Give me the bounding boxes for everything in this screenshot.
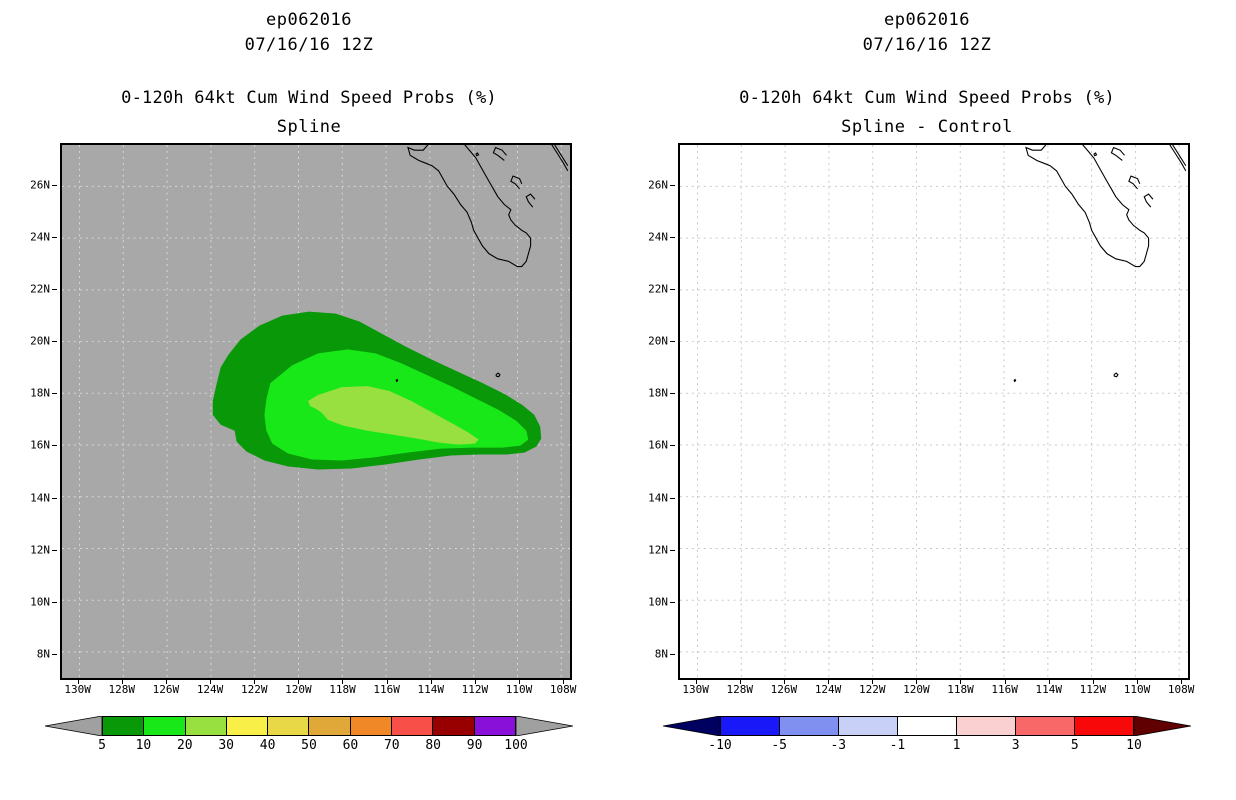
coastline-segment [396, 380, 398, 382]
y-axis-ticks-right: 8N10N12N14N16N18N20N22N24N26N [618, 143, 678, 680]
y-tick-label: 26N [30, 178, 50, 191]
colorbar-band [1016, 717, 1075, 735]
y-tick-label: 20N [648, 335, 668, 348]
colorbar-tick-label: 10 [1126, 738, 1142, 753]
colorbar-cap-low-left [45, 716, 102, 736]
x-tick-mark [254, 680, 255, 684]
map-layers-left [62, 145, 570, 678]
coastline-segment [1129, 176, 1140, 189]
gridlines-left [62, 145, 570, 678]
colorbar-tick-label: 3 [1012, 738, 1020, 753]
coastline-segment [531, 145, 568, 171]
valid-time-right: 07/16/16 12Z [618, 35, 1236, 55]
colorbar-tick-label: 60 [343, 738, 359, 753]
y-tick-mark [670, 237, 675, 238]
x-tick-label: 116W [373, 683, 400, 696]
x-tick-label: 118W [329, 683, 356, 696]
y-tick-label: 22N [30, 282, 50, 295]
contour-band-10 [264, 349, 528, 460]
colorbar-band [268, 717, 309, 735]
x-tick-label: 116W [991, 683, 1018, 696]
x-tick-mark [696, 680, 697, 684]
contour-band-20 [308, 386, 479, 445]
x-tick-mark [519, 680, 520, 684]
y-tick-mark [670, 654, 675, 655]
coastline-segment [362, 145, 568, 267]
x-tick-mark [740, 680, 741, 684]
colorbar-band [227, 717, 268, 735]
colorbar-cap-low-right [663, 716, 720, 736]
colorbar-tick-label: -5 [771, 738, 787, 753]
panel-spline: ep062016 07/16/16 12Z 0-120h 64kt Cum Wi… [0, 0, 618, 800]
colorbar-left[interactable]: 5102030405060708090100 [45, 714, 573, 760]
y-tick-label: 14N [30, 491, 50, 504]
x-tick-mark [431, 680, 432, 684]
y-tick-label: 8N [655, 647, 668, 660]
x-tick-mark [122, 680, 123, 684]
x-tick-label: 128W [727, 683, 754, 696]
x-tick-label: 120W [285, 683, 312, 696]
y-tick-label: 10N [648, 595, 668, 608]
colorbar-band [103, 717, 144, 735]
x-tick-label: 108W [550, 683, 577, 696]
x-tick-mark [872, 680, 873, 684]
coastline-left [362, 145, 568, 381]
colorbar-band [957, 717, 1016, 735]
colorbar-bands-right [720, 716, 1134, 736]
x-tick-mark [342, 680, 343, 684]
coastline-segment [1111, 148, 1124, 161]
colorbar-right[interactable]: -10-5-3-113510 [663, 714, 1191, 760]
colorbar-band [839, 717, 898, 735]
map-plot-area-difference[interactable] [678, 143, 1190, 680]
coastline-segment [1094, 153, 1097, 156]
x-tick-mark [475, 680, 476, 684]
x-tick-mark [298, 680, 299, 684]
y-tick-label: 16N [648, 439, 668, 452]
y-tick-label: 26N [648, 178, 668, 191]
colorbar-labels-right: -10-5-3-113510 [720, 738, 1134, 758]
x-tick-mark [1049, 680, 1050, 684]
y-axis-ticks-left: 8N10N12N14N16N18N20N22N24N26N [0, 143, 60, 680]
colorbar-tick-label: 1 [953, 738, 961, 753]
map-plot-area-spline[interactable] [60, 143, 572, 680]
map-layers-right [680, 145, 1188, 678]
y-tick-label: 22N [648, 282, 668, 295]
x-tick-label: 126W [771, 683, 798, 696]
y-tick-mark [52, 393, 57, 394]
x-tick-label: 112W [462, 683, 489, 696]
y-tick-mark [670, 341, 675, 342]
colorbar-tick-label: 70 [384, 738, 400, 753]
colorbar-tick-label: -10 [708, 738, 731, 753]
y-tick-mark [52, 602, 57, 603]
colorbar-band [351, 717, 392, 735]
x-tick-mark [1005, 680, 1006, 684]
y-tick-label: 10N [30, 595, 50, 608]
y-tick-label: 24N [30, 230, 50, 243]
y-tick-mark [670, 185, 675, 186]
contour-band-5 [213, 312, 541, 470]
colorbar-tick-label: 5 [1071, 738, 1079, 753]
coastline-segment [980, 145, 1186, 267]
y-tick-label: 8N [37, 647, 50, 660]
x-tick-label: 114W [418, 683, 445, 696]
y-tick-mark [52, 550, 57, 551]
colorbar-band [186, 717, 227, 735]
y-tick-label: 16N [30, 439, 50, 452]
x-tick-label: 120W [903, 683, 930, 696]
colorbar-band [309, 717, 350, 735]
y-tick-label: 18N [30, 387, 50, 400]
gridlines-right [680, 145, 1188, 678]
coastline-right [980, 145, 1186, 381]
storm-id-right: ep062016 [618, 10, 1236, 30]
chart-subtitle-right: Spline - Control [618, 117, 1236, 137]
x-tick-mark [563, 680, 564, 684]
colorbar-band [780, 717, 839, 735]
x-tick-label: 110W [506, 683, 533, 696]
colorbar-bands-left [102, 716, 516, 736]
y-tick-mark [670, 445, 675, 446]
coastline-segment [476, 153, 479, 156]
x-tick-mark [78, 680, 79, 684]
x-tick-mark [784, 680, 785, 684]
y-tick-mark [670, 550, 675, 551]
x-tick-label: 118W [947, 683, 974, 696]
y-tick-mark [52, 185, 57, 186]
x-tick-label: 126W [153, 683, 180, 696]
coastline-segment [511, 176, 522, 189]
chart-title-right: 0-120h 64kt Cum Wind Speed Probs (%) [618, 88, 1236, 108]
y-tick-mark [670, 602, 675, 603]
coastline-segment [526, 194, 535, 207]
chart-subtitle-left: Spline [0, 117, 618, 137]
x-tick-mark [387, 680, 388, 684]
colorbar-tick-label: 30 [218, 738, 234, 753]
coastline-segment [1149, 145, 1186, 171]
y-tick-label: 14N [648, 491, 668, 504]
x-tick-mark [1137, 680, 1138, 684]
x-tick-mark [828, 680, 829, 684]
y-tick-mark [670, 289, 675, 290]
colorbar-tick-label: 5 [98, 738, 106, 753]
y-tick-label: 12N [648, 543, 668, 556]
coastline-segment [1144, 194, 1153, 207]
x-axis-ticks-right: 130W128W126W124W122W120W118W116W114W112W… [678, 683, 1190, 703]
x-tick-label: 130W [64, 683, 91, 696]
colorbar-cap-high-right [1134, 716, 1191, 736]
colorbar-tick-label: 100 [504, 738, 527, 753]
colorbar-band [392, 717, 433, 735]
x-tick-label: 122W [859, 683, 886, 696]
y-tick-mark [670, 498, 675, 499]
x-tick-mark [166, 680, 167, 684]
x-tick-mark [210, 680, 211, 684]
y-tick-label: 12N [30, 543, 50, 556]
colorbar-tick-label: -3 [830, 738, 846, 753]
x-tick-label: 108W [1168, 683, 1195, 696]
valid-time-left: 07/16/16 12Z [0, 35, 618, 55]
x-tick-label: 130W [682, 683, 709, 696]
y-tick-label: 24N [648, 230, 668, 243]
y-tick-mark [52, 289, 57, 290]
storm-id-left: ep062016 [0, 10, 618, 30]
colorbar-tick-label: 20 [177, 738, 193, 753]
x-tick-mark [1093, 680, 1094, 684]
x-tick-mark [916, 680, 917, 684]
colorbar-band [144, 717, 185, 735]
y-tick-mark [52, 445, 57, 446]
colorbar-tick-label: 10 [136, 738, 152, 753]
coastline-segment [1014, 380, 1016, 382]
coastline-segment [496, 373, 500, 377]
colorbar-labels-left: 5102030405060708090100 [102, 738, 516, 758]
y-tick-mark [52, 654, 57, 655]
y-tick-mark [52, 237, 57, 238]
x-tick-label: 122W [241, 683, 268, 696]
x-tick-mark [1181, 680, 1182, 684]
y-tick-mark [670, 393, 675, 394]
x-tick-label: 110W [1124, 683, 1151, 696]
y-tick-mark [52, 498, 57, 499]
x-axis-ticks-left: 130W128W126W124W122W120W118W116W114W112W… [60, 683, 572, 703]
colorbar-band [721, 717, 780, 735]
x-tick-label: 124W [815, 683, 842, 696]
x-tick-label: 124W [197, 683, 224, 696]
colorbar-band [475, 717, 515, 735]
panel-spline-minus-control: ep062016 07/16/16 12Z 0-120h 64kt Cum Wi… [618, 0, 1236, 800]
y-tick-mark [52, 341, 57, 342]
colorbar-tick-label: 40 [260, 738, 276, 753]
colorbar-cap-high-left [516, 716, 573, 736]
x-tick-mark [960, 680, 961, 684]
colorbar-band [1075, 717, 1133, 735]
x-tick-label: 112W [1080, 683, 1107, 696]
chart-title-left: 0-120h 64kt Cum Wind Speed Probs (%) [0, 88, 618, 108]
y-tick-label: 20N [30, 335, 50, 348]
coastline-segment [1114, 373, 1118, 377]
colorbar-band [898, 717, 957, 735]
x-tick-label: 128W [109, 683, 136, 696]
colorbar-tick-label: 80 [425, 738, 441, 753]
y-tick-label: 18N [648, 387, 668, 400]
colorbar-tick-label: 50 [301, 738, 317, 753]
colorbar-tick-label: -1 [890, 738, 906, 753]
coastline-segment [493, 148, 506, 161]
colorbar-tick-label: 90 [467, 738, 483, 753]
x-tick-label: 114W [1036, 683, 1063, 696]
colorbar-band [433, 717, 474, 735]
probability-contours [213, 312, 541, 470]
